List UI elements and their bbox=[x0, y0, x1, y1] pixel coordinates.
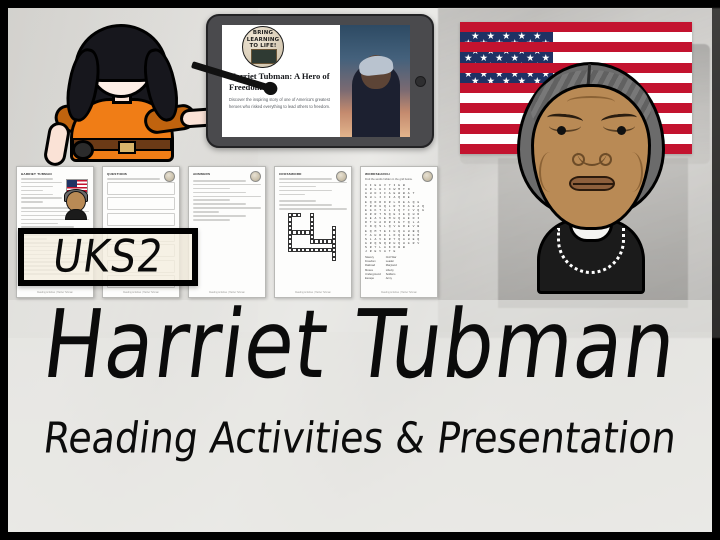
wordsearch-word-bank: SlaveryFreedomRailroadMosesUndergroundEs… bbox=[365, 256, 433, 280]
word-bank-item: Maryland bbox=[386, 264, 397, 268]
teacher-arm-left bbox=[42, 120, 71, 167]
teacher-hand-left bbox=[72, 140, 94, 160]
brand-logo-line1: BRING bbox=[243, 30, 283, 37]
portrait-eye-left bbox=[557, 126, 566, 135]
worksheet-page: Wordsearch Find the words hidden in the … bbox=[360, 166, 438, 298]
chalkboard-icon bbox=[251, 49, 277, 64]
title-block: Harriet Tubman Reading Activities & Pres… bbox=[8, 305, 712, 457]
portrait-cheek-left bbox=[539, 152, 561, 192]
portrait-mouth bbox=[569, 176, 615, 191]
crossword-cell bbox=[310, 226, 314, 230]
wordsearch-row: J R E V A T E bbox=[365, 249, 433, 253]
slide-photo bbox=[340, 25, 410, 137]
award-seal-icon bbox=[336, 171, 347, 182]
teacher-character-icon bbox=[28, 12, 203, 162]
key-stage-label: UKS2 bbox=[49, 231, 167, 283]
key-stage-badge: UKS2 bbox=[18, 228, 198, 286]
tablet-home-button bbox=[415, 76, 426, 87]
worksheet-page: Answers Reading Activities | Harriet Tub… bbox=[188, 166, 266, 298]
word-bank-column-1: SlaveryFreedomRailroadMosesUndergroundEs… bbox=[365, 256, 381, 280]
slide-body-text: Discover the inspiring story of one of A… bbox=[229, 97, 335, 110]
portrait-nose bbox=[577, 136, 607, 166]
award-seal-icon bbox=[164, 171, 175, 182]
crossword-cell bbox=[327, 239, 331, 243]
word-bank-column-2: Civil WarLeaderMarylandLibertySoldiersAr… bbox=[386, 256, 397, 280]
mini-portrait-icon bbox=[63, 189, 89, 219]
word-bank-item: Escape bbox=[365, 277, 381, 281]
word-bank-item: Army bbox=[386, 277, 397, 281]
resource-cover: BRING LEARNING TO LIFE! Harriet Tubman: … bbox=[0, 0, 720, 540]
page-title: Harriet Tubman bbox=[2, 298, 718, 392]
worksheet-page: Crossword Reading Activities | Harriet T… bbox=[274, 166, 352, 298]
page-subtitle: Reading Activities & Presentation bbox=[5, 417, 714, 460]
portrait-eye-right bbox=[617, 126, 626, 135]
worksheet-heading: Harriet Tubman bbox=[21, 172, 89, 176]
brand-logo-line2: LEARNING bbox=[243, 37, 283, 44]
brand-logo-icon: BRING LEARNING TO LIFE! bbox=[242, 26, 284, 68]
award-seal-icon bbox=[422, 171, 433, 182]
brand-logo-text: BRING LEARNING TO LIFE! bbox=[243, 30, 283, 50]
slide-photo-panel bbox=[340, 25, 410, 137]
flag-stripe bbox=[460, 22, 692, 32]
award-seal-icon bbox=[250, 171, 261, 182]
wordsearch-grid: X I E H V Y I E BA R L H I X W M T NA H … bbox=[365, 183, 433, 253]
portrait-cheek-right bbox=[621, 152, 643, 192]
crossword-cell bbox=[332, 257, 336, 261]
crossword-cell bbox=[297, 213, 301, 217]
harriet-tubman-portrait-icon bbox=[495, 40, 685, 292]
portrait-forehead-line bbox=[567, 96, 615, 108]
crossword-grid bbox=[279, 213, 347, 271]
